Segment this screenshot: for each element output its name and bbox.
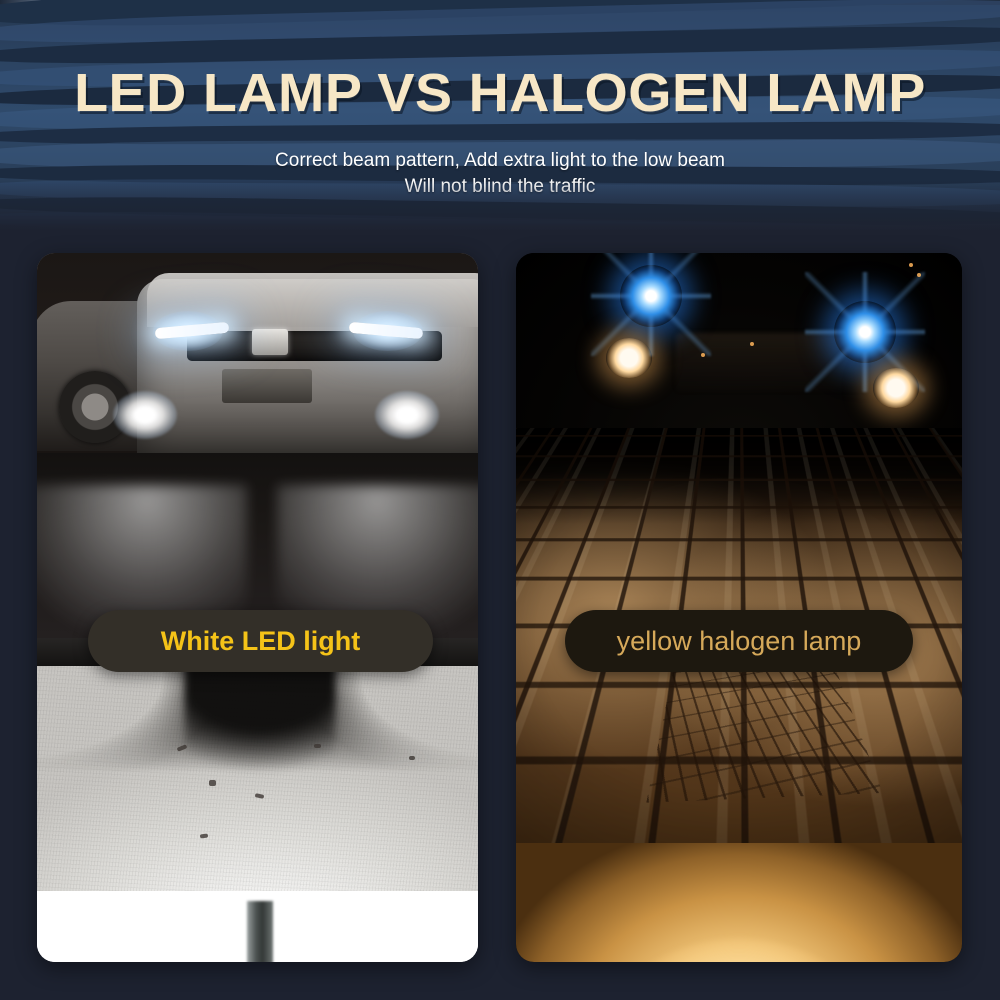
distant-light-spark xyxy=(909,263,913,267)
halogen-headlight-right xyxy=(873,368,919,408)
license-plate xyxy=(222,369,312,403)
road-debris xyxy=(209,780,216,786)
led-car-night-photo xyxy=(37,253,478,638)
led-comparison-panel: White LED light xyxy=(37,253,478,962)
white-led-bulb xyxy=(198,901,318,962)
fog-lamp-left xyxy=(113,391,177,439)
subtitle-line-1: Correct beam pattern, Add extra light to… xyxy=(0,148,1000,174)
car-badge-icon xyxy=(252,329,288,355)
distant-light-spark xyxy=(701,353,705,357)
fog-lamp-right xyxy=(375,391,439,439)
page-title: LED LAMP VS HALOGEN LAMP xyxy=(0,62,1000,124)
white-led-light-label-text: White LED light xyxy=(161,626,360,657)
led-beam-pattern-photo xyxy=(37,638,478,891)
distant-light-spark xyxy=(917,273,921,277)
asphalt-texture xyxy=(37,638,478,891)
road-debris xyxy=(409,756,415,760)
blue-led-accent-right xyxy=(834,301,896,363)
bulb-shaft xyxy=(247,901,273,962)
road-debris xyxy=(314,744,321,748)
halogen-headlight-left xyxy=(606,338,652,378)
header-band: LED LAMP VS HALOGEN LAMP Correct beam pa… xyxy=(0,0,1000,232)
yellow-halogen-lamp-label: yellow halogen lamp xyxy=(565,610,913,672)
distant-light-spark xyxy=(750,342,754,346)
page-subtitle: Correct beam pattern, Add extra light to… xyxy=(0,148,1000,200)
halogen-bulb-photo xyxy=(516,843,962,962)
halogen-comparison-panel: yellow halogen lamp xyxy=(516,253,962,962)
yellow-halogen-lamp-label-text: yellow halogen lamp xyxy=(617,626,862,657)
blue-led-accent-left xyxy=(620,265,682,327)
subtitle-line-2: Will not blind the traffic xyxy=(0,174,1000,200)
infographic-page: LED LAMP VS HALOGEN LAMP Correct beam pa… xyxy=(0,0,1000,1000)
white-led-light-label: White LED light xyxy=(88,610,433,672)
led-bulb-photo xyxy=(37,891,478,962)
halogen-car-night-photo xyxy=(516,253,962,428)
